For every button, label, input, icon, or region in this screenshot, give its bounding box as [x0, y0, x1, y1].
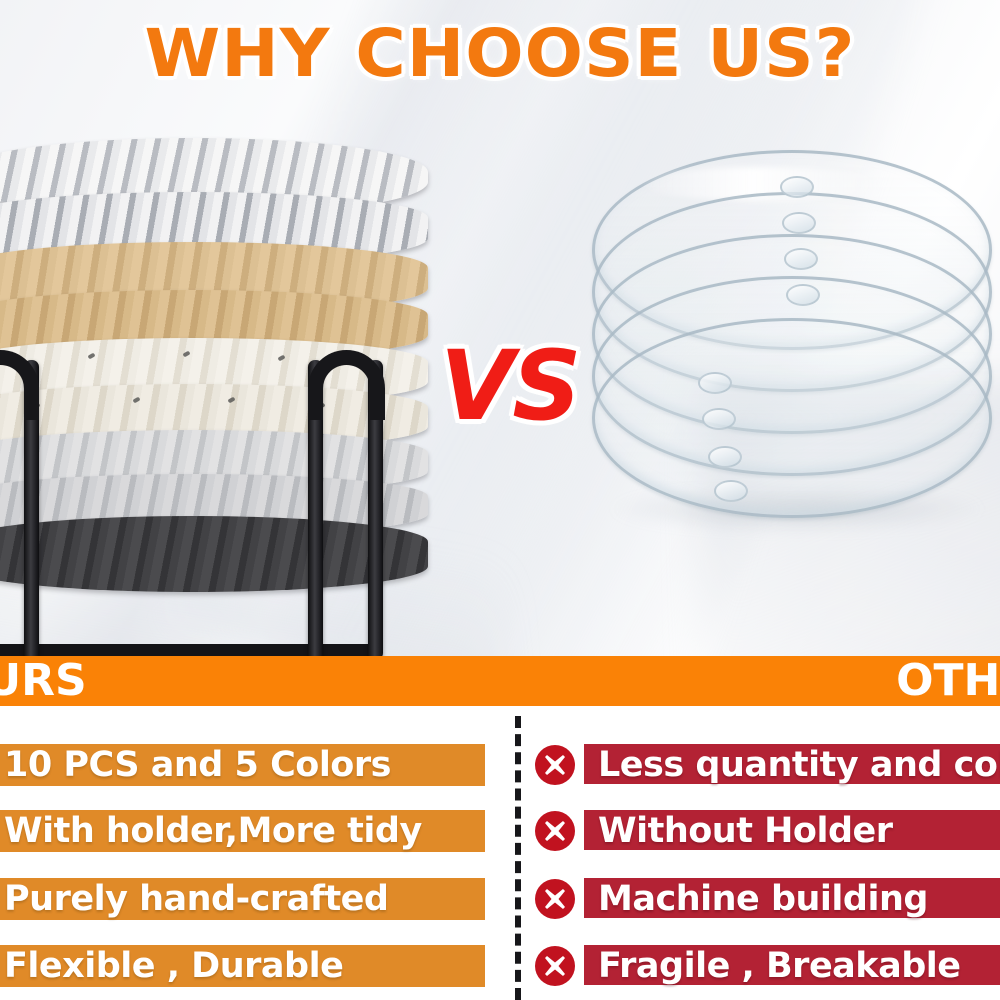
- rope-coaster-stack: [0, 138, 428, 568]
- ours-feature-row: 10 PCS and 5 Colors: [0, 744, 485, 786]
- glass-nub-3: [784, 248, 818, 270]
- others-feature-row: Without Holder: [528, 810, 1000, 852]
- others-feature-label: Without Holder: [528, 810, 893, 852]
- column-header-band: OURS OTHERS: [0, 656, 1000, 706]
- glass-nub-8: [714, 480, 748, 502]
- glass-coaster-5: [592, 318, 992, 518]
- glass-nub-1: [780, 176, 814, 198]
- ours-feature-row: Purely hand-crafted: [0, 878, 485, 920]
- holder-arc-right: [308, 350, 385, 420]
- glass-nub-6: [702, 408, 736, 430]
- others-column-heading: OTHERS: [896, 656, 1000, 706]
- ours-feature-row: With holder,More tidy: [0, 810, 485, 852]
- ours-feature-label: 10 PCS and 5 Colors: [0, 744, 391, 786]
- ours-feature-label: With holder,More tidy: [0, 810, 422, 852]
- others-feature-row: Less quantity and color: [528, 744, 1000, 786]
- page-title: WHY CHOOSE US?: [0, 16, 1000, 92]
- ours-feature-row: Flexible , Durable: [0, 945, 485, 987]
- ours-feature-label: Flexible , Durable: [0, 945, 343, 987]
- comparison-infographic: WHY CHOOSE US? VS OURS OTHERS 10 PCS and…: [0, 0, 1000, 1000]
- glass-nub-2: [782, 212, 816, 234]
- glass-coaster-stack: [592, 150, 992, 550]
- coaster-charcoal: [0, 516, 428, 592]
- column-divider-dashed: [515, 716, 521, 1000]
- others-feature-label: Machine building: [528, 878, 928, 920]
- x-circle-icon: [534, 744, 576, 786]
- ours-column-heading: OURS: [0, 656, 87, 706]
- others-feature-label: Less quantity and color: [528, 744, 1000, 786]
- glass-nub-5: [698, 372, 732, 394]
- vs-badge: VS: [440, 338, 579, 434]
- glass-nub-7: [708, 446, 742, 468]
- x-circle-icon: [534, 878, 576, 920]
- ours-feature-label: Purely hand-crafted: [0, 878, 388, 920]
- others-feature-label: Fragile , Breakable: [528, 945, 960, 987]
- glass-nub-4: [786, 284, 820, 306]
- comparison-panel: 10 PCS and 5 Colors With holder,More tid…: [0, 706, 1000, 1000]
- x-circle-icon: [534, 810, 576, 852]
- others-feature-row: Machine building: [528, 878, 1000, 920]
- hero-photo-area: WHY CHOOSE US? VS: [0, 0, 1000, 660]
- others-feature-row: Fragile , Breakable: [528, 945, 1000, 987]
- x-circle-icon: [534, 945, 576, 987]
